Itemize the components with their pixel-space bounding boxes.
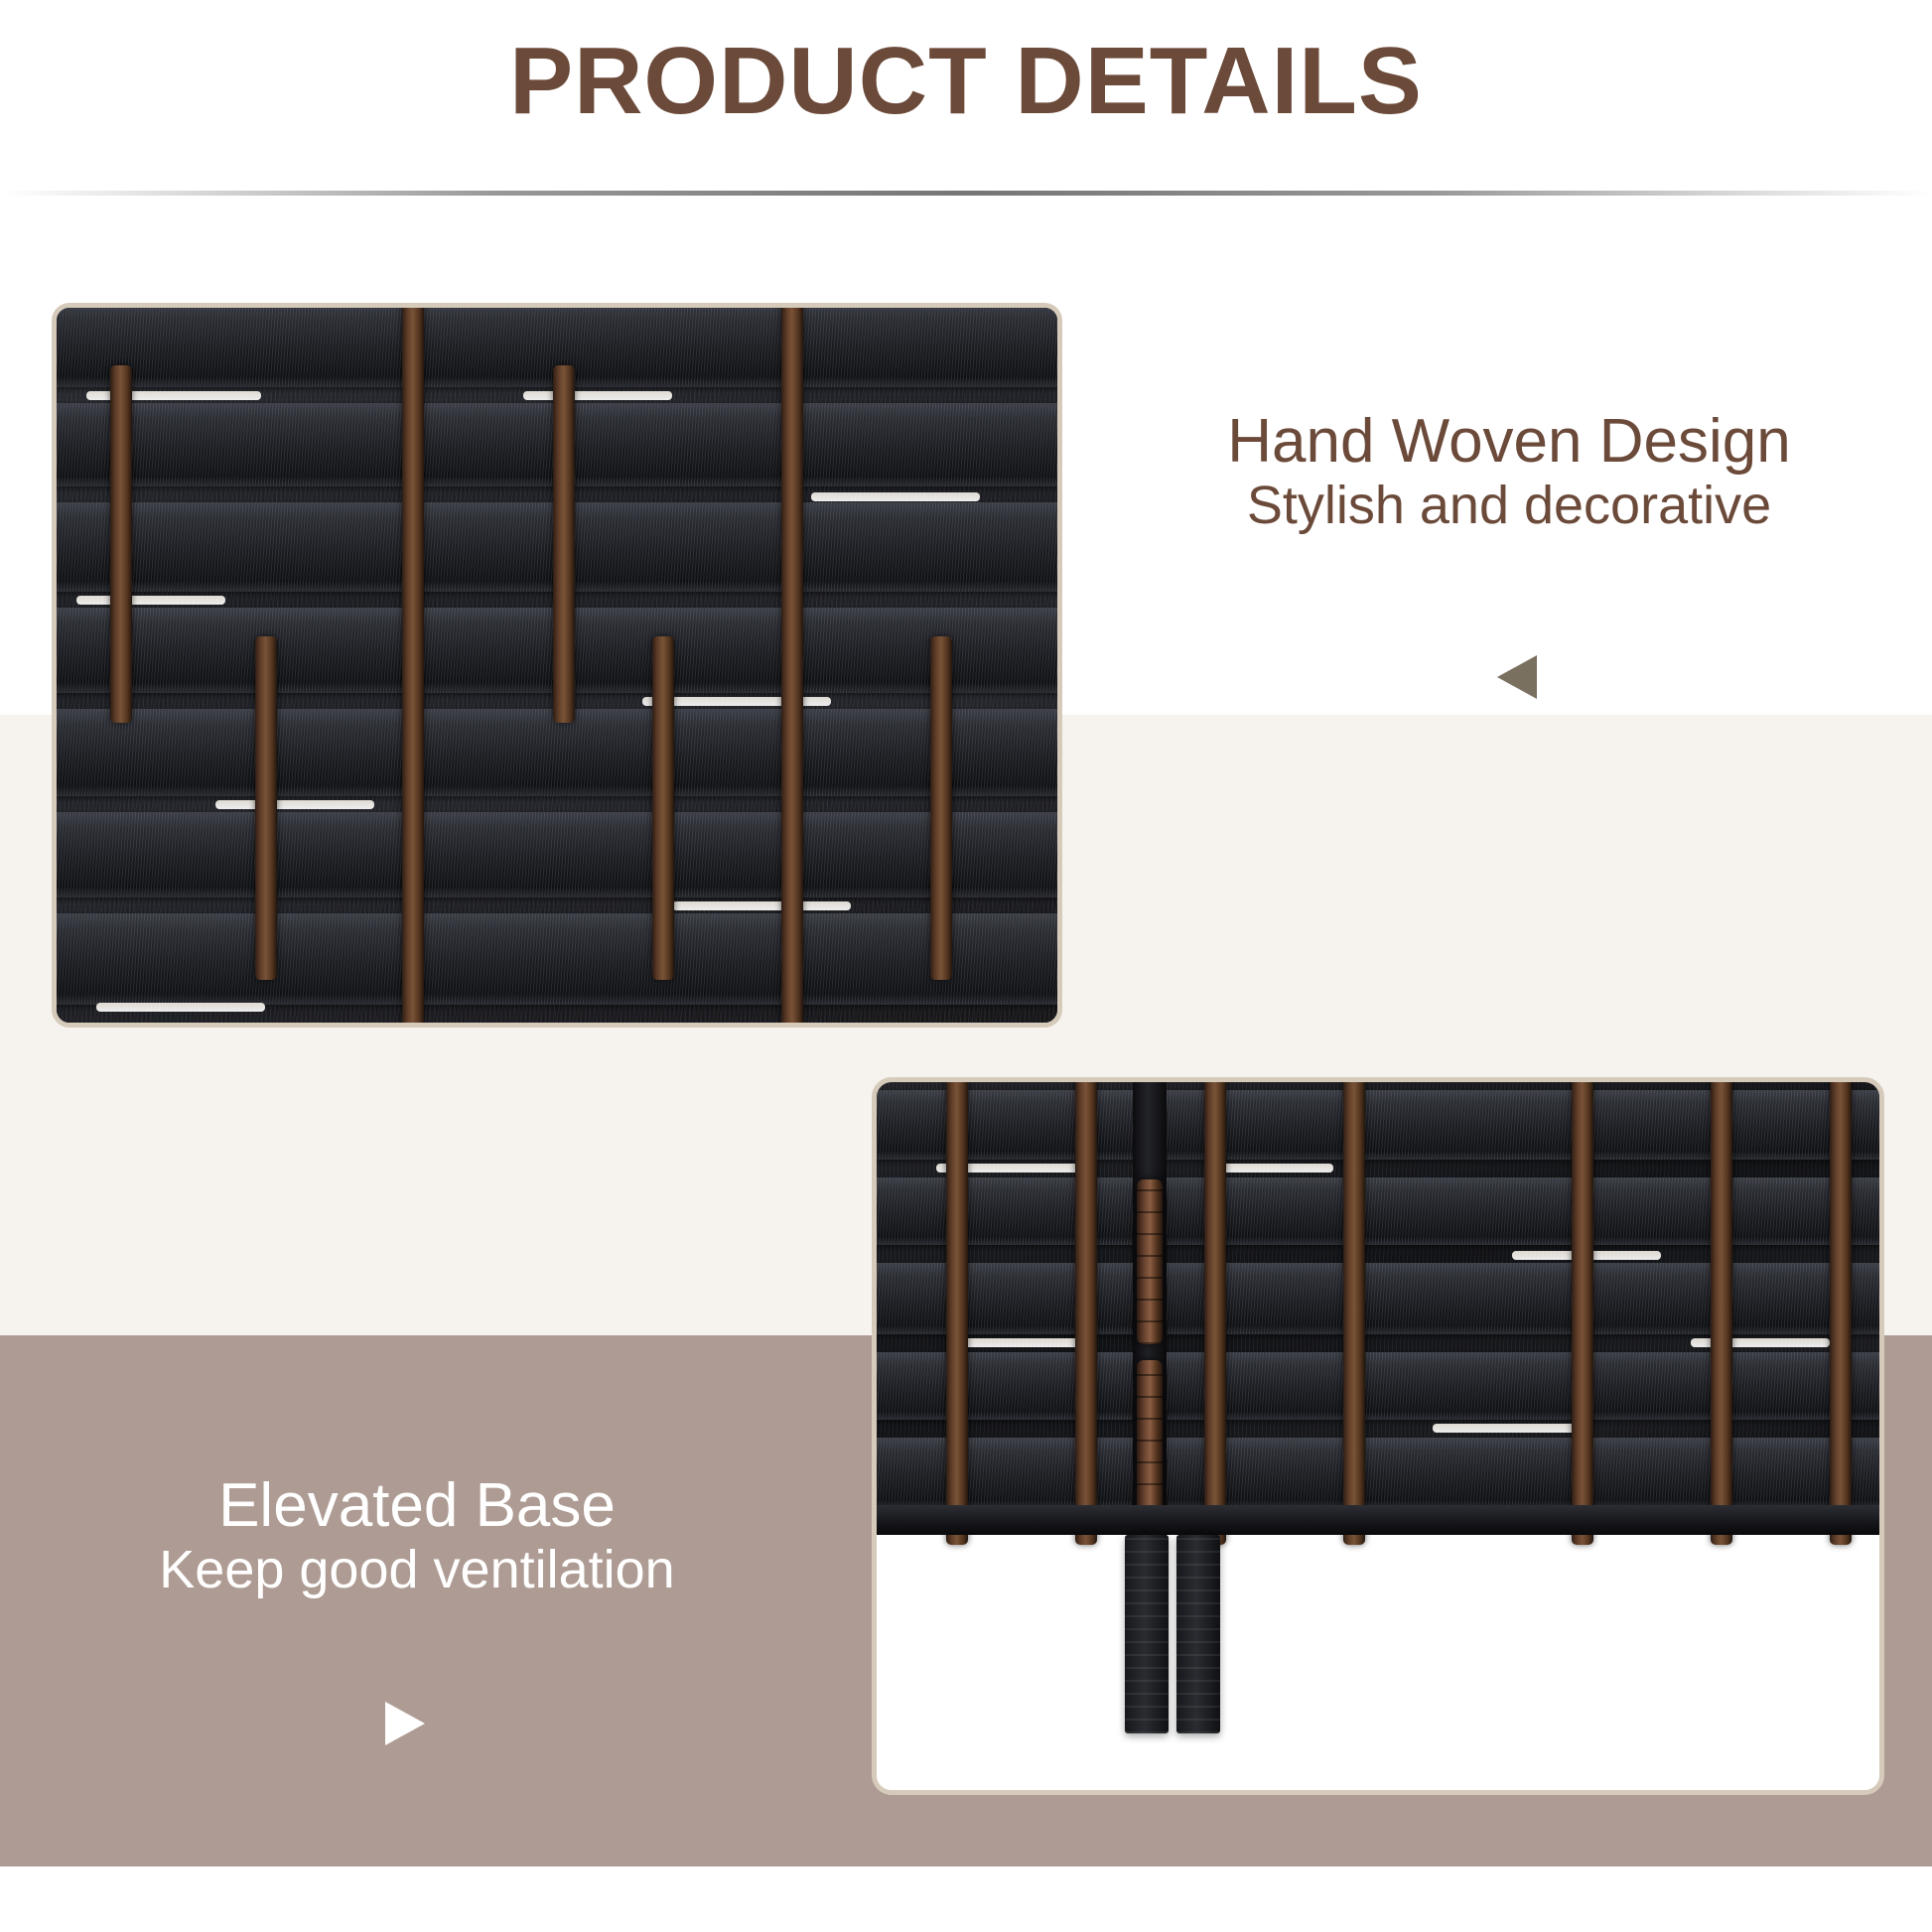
weave-dowel — [930, 636, 952, 980]
feature-subtitle: Stylish and decorative — [1122, 476, 1896, 535]
hinge-lower-icon — [1137, 1360, 1163, 1529]
weave-dowel — [946, 1077, 968, 1545]
base-photo-white-floor — [877, 1535, 1879, 1790]
weave-gap — [96, 1003, 265, 1012]
weave-dowel — [1711, 1077, 1732, 1545]
base-leg — [1125, 1535, 1169, 1733]
weave-dowel — [402, 303, 424, 1028]
weave-strap — [872, 1438, 1884, 1509]
weave-closeup-inner — [57, 308, 1057, 1023]
page-title: PRODUCT DETAILS — [0, 28, 1932, 135]
weave-strap — [872, 1177, 1884, 1245]
weave-strap — [52, 913, 1062, 1005]
base-hinge-inner — [877, 1082, 1879, 1790]
weave-strap — [872, 1263, 1884, 1334]
feature-heading: Elevated Base — [60, 1473, 774, 1540]
weave-gap — [1433, 1424, 1591, 1433]
weave-gap — [76, 596, 225, 605]
weave-dowel — [110, 365, 132, 723]
arrow-right-icon — [385, 1702, 425, 1745]
photo-base-hinge — [872, 1077, 1884, 1795]
arrow-left-icon — [1497, 655, 1537, 699]
weave-gap — [672, 901, 851, 910]
feature-subtitle: Keep good ventilation — [60, 1540, 774, 1599]
weave-gap — [811, 492, 980, 501]
base-leg — [1176, 1535, 1220, 1733]
weave-gap — [956, 1338, 1095, 1347]
weave-strap — [872, 1090, 1884, 1160]
feature-heading: Hand Woven Design — [1122, 409, 1896, 476]
title-divider — [0, 191, 1932, 196]
weave-dowel — [1343, 1077, 1365, 1545]
weave-strap — [52, 812, 1062, 897]
weave-dowel — [553, 365, 575, 723]
feature-elevated-base: Elevated Base Keep good ventilation — [60, 1473, 774, 1599]
background-band-white-bottom — [0, 1866, 1932, 1932]
weave-strap — [872, 1352, 1884, 1420]
weave-dowel — [1204, 1077, 1226, 1545]
weave-dowel — [1572, 1077, 1593, 1545]
weave-dowel — [781, 303, 803, 1028]
weave-dowel — [1830, 1077, 1852, 1545]
feature-hand-woven-design: Hand Woven Design Stylish and decorative — [1122, 409, 1896, 535]
weave-dowel — [1075, 1077, 1097, 1545]
base-photo-woven-panels — [877, 1082, 1879, 1535]
weave-dowel — [255, 636, 277, 980]
weave-gap — [215, 800, 374, 809]
weave-dowel — [652, 636, 674, 980]
photo-weave-closeup — [52, 303, 1062, 1028]
base-rail — [877, 1505, 1879, 1535]
weave-gap — [523, 391, 672, 400]
hinge-upper-icon — [1137, 1179, 1163, 1344]
